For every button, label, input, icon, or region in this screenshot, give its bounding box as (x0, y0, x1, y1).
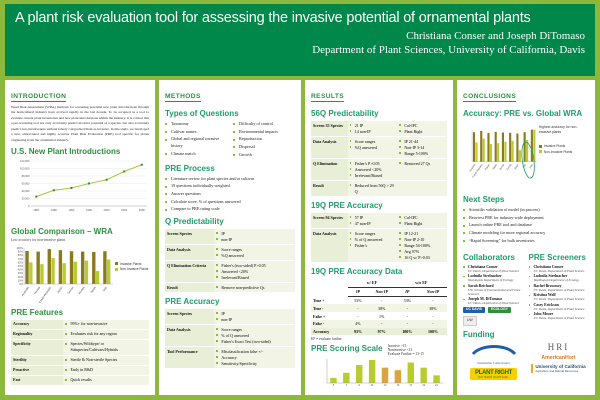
table-cell: - (348, 312, 367, 320)
table-cell: 38% (419, 304, 447, 312)
uw-logo: UW (463, 316, 477, 326)
row-label: False + (311, 312, 348, 320)
row-value: IP 21-44Non-IP 3-14Range 5-100% (397, 137, 447, 159)
accuracy-chart-side: Highest accuracy for non-invasive plants… (539, 121, 589, 155)
accuracy-data-title: 19Q PRE Accuracy Data (311, 267, 447, 276)
global-comparison-svg: 0%10%20%30%40%50%60%70%80%90%100% Austra… (11, 244, 115, 304)
row-value: Score ranges% of Q answeredFisher's (348, 229, 398, 263)
row-label: Fast (11, 375, 63, 385)
value-item: Reduced from 56Q > 29 Q (350, 183, 396, 195)
x-tick-label: 13 (384, 383, 387, 387)
types-of-questions-lists: TaxonomyCultivar namesGlobal and regiona… (165, 121, 295, 160)
chart-annotation: Highest accuracy for non-invasive plants (539, 125, 589, 134)
pre-features-title: PRE Features (11, 308, 149, 317)
list-item: Global and regional invasive history (165, 136, 227, 149)
types-of-questions-left: TaxonomyCultivar namesGlobal and regiona… (165, 121, 227, 160)
person-affiliation: UC Davis, Department of Plant Science (534, 269, 590, 273)
hri-logo: HRI (548, 342, 570, 352)
list-item: Difficulty of control (233, 121, 295, 128)
types-of-questions-right: Difficulty of controlEnvironmental impac… (233, 121, 295, 160)
sc-mark-icon (471, 343, 517, 355)
row-label: True + (311, 296, 348, 304)
sustainable-conservation-logo: Sustainable Conservation (471, 342, 517, 365)
person-affiliation: UC Davis, Department of Plant Science (534, 307, 590, 311)
x-category-label: Taiwan (66, 285, 75, 295)
section-heading-methods: METHODS (165, 93, 201, 102)
legend-item: Invasive Plants (115, 262, 148, 266)
x-category-label: Taiwan (499, 163, 505, 171)
person-affiliation: UC Davis, Department of Plant Science (534, 316, 590, 320)
value-item: %Q answered (216, 253, 293, 259)
value-item: Species/Wildtype/ or Subspecies/Cultivar… (65, 341, 147, 353)
pre-accuracy-title: PRE Accuracy (165, 297, 295, 306)
table-cell: 100% (396, 328, 419, 336)
row-label: Result (311, 181, 348, 197)
y-tick-label: 120,000 (20, 159, 30, 163)
group-header: w/o EF (396, 279, 447, 287)
column-methods: METHODS Types of Questions TaxonomyCulti… (159, 80, 301, 395)
y-tick-label: 60,000 (22, 181, 30, 185)
row-value: IP 12-21Non-IP 2-10Range 54-100%Avg 97%1… (397, 229, 447, 263)
y-tick-label: 90% (18, 250, 24, 254)
x-category-label: Italy (102, 285, 109, 292)
people-section: Collaborators Christiana ConserUC Davis,… (463, 249, 589, 326)
row-label: Accuracy (11, 320, 63, 330)
x-tick-label: 9 (358, 383, 360, 387)
pr-logo-label: PLANT RIGHT (475, 370, 512, 376)
person-affiliation: UC Davis, Department of Plant Science (468, 269, 524, 273)
row-label: Result (165, 283, 214, 293)
value-item: Range 5-100% (399, 151, 445, 157)
person-entry: Ludmila StrelnacherWashington Department… (529, 274, 590, 282)
plant-right-logo: PLANT RIGHT BUY SMART. PLANT SAFE. (470, 368, 517, 380)
chart-subtitle: Low accuracy for non-invasive plants (11, 238, 149, 242)
list-item: Launch online PRE tool and database (463, 222, 589, 229)
x-category-label: Florida (77, 285, 85, 295)
column-introduction: INTRODUCTION Weed Risk Assessment (WRA) … (5, 80, 155, 395)
x-tick-label: 11 (371, 383, 374, 387)
scoring-scale-plot: 579111315171921 (311, 356, 447, 395)
row-label: Specificity (11, 339, 63, 355)
uc-anr-logo: University of California Agriculture and… (531, 364, 585, 373)
next-steps-list: Scientific validation of model (in proce… (463, 207, 589, 245)
value-item: %Q answered (350, 145, 396, 151)
pre-process-title: PRE Process (165, 164, 295, 173)
row-label: Sterility (11, 355, 63, 365)
section-heading-results: RESULTS (311, 93, 344, 102)
table-cell: 4% (348, 320, 367, 328)
table-row: False -4%--- (311, 320, 447, 328)
y-tick-label: 40,000 (22, 189, 30, 193)
row-label: Data Analysis (311, 229, 348, 263)
collaborators-list: Christiana ConserUC Davis, Department of… (463, 265, 524, 306)
collaborators-title: Collaborators (463, 253, 524, 262)
table-row: FastQuick results (11, 375, 149, 385)
x-category-label: Japan (56, 285, 64, 294)
ecology-logo: ECOLOGY (488, 307, 511, 313)
funding-logos: Sustainable Conservation PLANT RIGHT BUY… (463, 342, 589, 380)
value-item: non-IP (216, 237, 293, 243)
chart-title: Global Comparison – WRA (11, 227, 149, 236)
line-chart-svg: 020,00040,00060,00080,000100,000120,000 … (11, 158, 149, 220)
y-tick-label: 20,000 (22, 196, 30, 200)
row-label: Screen 35 Species (311, 121, 348, 137)
x-category-label: PRE (530, 164, 535, 169)
table-cell: 53% (396, 296, 419, 304)
row-value: IPnon-IP (214, 309, 295, 325)
row-value: Evaluates risk for any region (63, 329, 149, 339)
poster-header: A plant risk evaluation tool for assessi… (5, 4, 595, 76)
accuracy-comparison-svg: AustraliaCzech RepublicHawaiiJapanTaiwan… (463, 121, 539, 191)
person-affiliation: UC Davis, Department of Plant Science (534, 288, 590, 292)
person-entry: John MooreUC Davis, Department of Plant … (529, 312, 590, 320)
table-row: ResultRemove non-predictive Qs (165, 283, 295, 293)
person-entry: Ludmila StrelnacherWashington Department… (463, 274, 524, 282)
legend-swatch-non-invasive (115, 268, 118, 271)
next-steps-title: Next Steps (463, 195, 589, 204)
q19-accuracy-table: Screen 94 Species57 IP47 non-IPCal-IPCPl… (311, 213, 447, 263)
accuracy-data-footnote: EF = evaluate further (311, 337, 447, 341)
value-item: Early in R&D (65, 367, 147, 373)
list-item: Compare to PRE rating scale (165, 206, 295, 213)
table-cell: 1% (368, 312, 396, 320)
author-block: Christiana Conser and Joseph DiTomaso De… (15, 30, 585, 58)
x-tick-label: 1992 (69, 208, 75, 212)
row-value: 95%+ for non-invasive (63, 320, 149, 330)
person-entry: Christiana ConserUC Davis, Department of… (463, 265, 524, 273)
table-cell: 97% (368, 328, 396, 336)
pre-screeners-list: Christiana ConserUC Davis, Department of… (529, 265, 590, 321)
y-tick-label: 0% (19, 282, 23, 286)
x-tick-label: 1989 (51, 208, 57, 212)
matrix-group-header-row: w/ EFw/o EF (311, 279, 447, 287)
list-item: 19 questions individually weighted (165, 183, 295, 190)
q56-title: 56Q Predictability (311, 109, 447, 118)
list-item: Literature review for plant species and/… (165, 176, 295, 183)
x-category-label: Florida (506, 163, 513, 171)
person-entry: Rachel BrownseyUC Davis, Department of P… (529, 284, 590, 292)
accuracy-chart-title: Accuracy: PRE vs. Global WRA (463, 109, 589, 118)
ucanr-line1: University of California (535, 364, 585, 369)
pre-accuracy-table: Screen SpeciesIPnon-IPData AnalysisScore… (165, 309, 295, 369)
table-row: SterilitySterile & Non-sterile Species (11, 355, 149, 365)
value-item: Fisher's Exact Test (two-sided) (216, 339, 293, 345)
y-tick-label: 80% (18, 253, 24, 257)
x-tick-label: 17 (409, 383, 412, 387)
list-item: Calculate score, % of questions answered (165, 199, 295, 206)
row-label: Screen 94 Species (311, 213, 348, 229)
list-item: “Rapid Screening” for bulk inventories (463, 238, 589, 245)
table-row: Q Elimination CriteriaFisher's (two-side… (165, 261, 295, 283)
row-value: Remove non-predictive Qs (214, 283, 295, 293)
global-comparison-legend: Invasive Plants Non-Invasive Plants (115, 244, 148, 273)
y-tick-label: 0 (28, 204, 30, 208)
person-affiliation: Washington Department of Ecology (468, 278, 524, 282)
uc-davis-logo: UC DAVIS (463, 307, 485, 313)
x-tick-label: 2000 (104, 208, 110, 212)
y-tick-label: 100% (16, 246, 23, 250)
value-item: 95%+ for non-invasive (65, 321, 147, 327)
funding-title: Funding (463, 330, 589, 339)
pre-features-table: Accuracy95%+ for non-invasiveRegionality… (11, 320, 149, 386)
list-item: Climate modeling for more regional accur… (463, 230, 589, 237)
americanhort-logo: AmericanHort (541, 355, 575, 361)
legend-label: Non-Invasive Plants (544, 150, 572, 154)
value-item: Fisher's (350, 243, 396, 249)
person-affiliation: UC Davis, Department of Plant Science (468, 301, 524, 305)
list-item: Beta-test PRE for industry-wide deployme… (463, 215, 589, 222)
table-cell: - (396, 320, 419, 328)
row-label: Regionality (11, 329, 63, 339)
row-label: Q Elimination Criteria (165, 261, 214, 283)
row-value: Cal-IPCPlant Right (397, 213, 447, 229)
line-chart-plot: 020,00040,00060,00080,000100,000120,000 … (11, 158, 149, 225)
row-value: Removed 27 Qs (397, 159, 447, 181)
table-row: ProactiveEarly in R&D (11, 365, 149, 375)
x-category-label: Australia (469, 163, 477, 173)
person-affiliation: Washington Department of Ecology (534, 278, 590, 282)
x-tick-label: 1987 (33, 208, 39, 212)
y-tick-label: 100,000 (20, 166, 30, 170)
legend-swatch-invasive (115, 262, 118, 265)
value-item: Sterile & Non-sterile Species (65, 357, 147, 363)
table-row: Data AnalysisScore ranges%Q answeredIP 2… (311, 137, 447, 159)
list-item: Growth (233, 152, 295, 159)
y-tick-label: 60% (18, 260, 24, 264)
row-label: Proactive (11, 365, 63, 375)
page-title: A plant risk evaluation tool for assessi… (15, 10, 585, 27)
legend-swatch-non-invasive (539, 150, 542, 153)
list-item: Environmental impacts (233, 129, 295, 136)
table-row: Tool PerformanceMisclassification false … (165, 347, 295, 369)
pre-process-list: Literature review for plant species and/… (165, 176, 295, 214)
author-names: Christiana Conser and Joseph DiTomaso (15, 30, 585, 44)
row-label: False - (311, 320, 348, 328)
row-label: Accuracy (311, 328, 348, 336)
person-entry: Joseph M. DiTomasoUC Davis, Department o… (463, 297, 524, 305)
y-tick-label: 20% (18, 275, 24, 279)
x-category-label: Spain (515, 163, 520, 170)
corner-cell (311, 287, 348, 296)
row-label: Screen Species (165, 309, 214, 325)
y-tick-label: 70% (18, 257, 24, 261)
value-item: Removed 27 Qs (399, 161, 445, 167)
row-label: Data Analysis (311, 137, 348, 159)
poster-columns: INTRODUCTION Weed Risk Assessment (WRA) … (5, 80, 595, 395)
x-category-label: Hawaii (485, 164, 491, 171)
chart-global-comparison-wra: Global Comparison – WRA Low accuracy for… (11, 227, 149, 304)
legend-label: Invasive Plants (120, 262, 141, 266)
table-row: Screen SpeciesIPnon-IP (165, 309, 295, 325)
person-affiliation: UW, School of Environmental and Forest S… (468, 288, 524, 296)
column-conclusions: CONCLUSIONS Accuracy: PRE vs. Global WRA… (457, 80, 595, 395)
pr-logo-sub: BUY SMART. PLANT SAFE. (475, 376, 512, 379)
collaborator-logos: UC DAVIS ECOLOGY UW (463, 307, 524, 325)
x-category-label: Australia (20, 285, 30, 297)
table-row: Data AnalysisScore ranges% of Q answered… (165, 325, 295, 347)
table-row: False +-1%-- (311, 312, 447, 320)
list-item: Scientific validation of model (in proce… (463, 207, 589, 214)
row-label: Data Analysis (165, 325, 214, 347)
value-item: 14 non-IP (350, 129, 396, 135)
americanhort-label: AmericanHort (541, 355, 575, 361)
group-header: w/ EF (348, 279, 395, 287)
scoring-scale-title: PRE Scoring Scale (311, 344, 383, 353)
table-cell: - (419, 296, 447, 304)
row-value: Cal-IPCPlant Right (397, 121, 447, 137)
row-label: Tool Performance (165, 347, 214, 369)
table-row: Screen 35 Species21 IP14 non-IPCal-IPCPl… (311, 121, 447, 137)
value-item: Remove non-predictive Qs (216, 285, 293, 291)
table-cell: - (368, 320, 396, 328)
q19-title: 19Q PRE Accuracy (311, 201, 447, 210)
x-tick-label: 19 (422, 383, 425, 387)
table-row: Data AnalysisScore ranges%Q answered (165, 245, 295, 261)
row-value: Score ranges% of Q answeredFisher's Exac… (214, 325, 295, 347)
author-affiliation: Department of Plant Sciences, University… (15, 44, 585, 58)
row-value: Early in R&D (63, 365, 149, 375)
table-cell: - (396, 312, 419, 320)
row-label: True - (311, 304, 348, 312)
value-item: Irrelevant/Biased (350, 173, 396, 179)
x-category-label: Spain (89, 285, 97, 294)
legend-label: Invasive Plants (544, 144, 565, 148)
value-item: 47 non-IP (350, 221, 396, 227)
table-row: Screen SpeciesIPnon-IP (165, 229, 295, 245)
accuracy-data-matrix: w/ EFw/o EFIPNon-IPIPNon-IP True +53%-53… (311, 279, 447, 335)
introduction-paragraph: Weed Risk Assessment (WRA) methods for s… (11, 105, 149, 143)
value-item: Plant Right (399, 221, 445, 227)
list-item: Answer questions (165, 191, 295, 198)
chart-us-new-plant-introductions: U.S. New Plant Introductions 020,00040,0… (11, 147, 149, 225)
q56-predictability-table: Screen 35 Species21 IP14 non-IPCal-IPCPl… (311, 121, 447, 197)
row-label: Data Analysis (165, 245, 214, 261)
table-cell: 53% (348, 296, 367, 304)
column-header: Non-IP (368, 287, 396, 296)
scoring-scale-svg: 579111315171921 (311, 356, 447, 390)
x-tick-label: 2008 (139, 208, 145, 212)
list-item: Cultivar names (165, 129, 227, 136)
types-of-questions-title: Types of Questions (165, 109, 295, 118)
table-row: Data AnalysisScore ranges% of Q answered… (311, 229, 447, 263)
x-tick-label: 5 (333, 383, 335, 387)
table-cell: - (419, 320, 447, 328)
row-label: Q Elimination (311, 159, 348, 181)
sc-logo-label: Sustainable Conservation (471, 361, 517, 365)
table-cell: - (419, 312, 447, 320)
row-value: Score ranges%Q answered (214, 245, 295, 261)
table-row: Accuracy95%+ for non-invasive (11, 320, 149, 330)
table-row: Q EliminationFisher's P>0.05Answered <20… (311, 159, 447, 181)
x-category-label: Japan (493, 163, 499, 170)
y-tick-label: 30% (18, 271, 24, 275)
x-tick-label: 21 (435, 383, 438, 387)
row-value (397, 181, 447, 197)
row-value: Fisher's (two-sided) P>0.05Answered <20%… (214, 261, 295, 283)
column-header: IP (348, 287, 367, 296)
row-value: 57 IP47 non-IP (348, 213, 398, 229)
value-item: Plant Right (399, 129, 445, 135)
x-tick-label: 15 (396, 383, 399, 387)
legend-label: Non-Invasive Plants (120, 267, 148, 271)
table-cell: - (368, 296, 396, 304)
row-value: Species/Wildtype/ or Subspecies/Cultivar… (63, 339, 149, 355)
x-tick-label: 1996 (86, 208, 92, 212)
x-tick-label: 7 (346, 383, 348, 387)
row-value: Score ranges%Q answered (348, 137, 398, 159)
table-row: ResultReduced from 56Q > 29 Q (311, 181, 447, 197)
chart-title: U.S. New Plant Introductions (11, 147, 149, 156)
row-value: Quick results (63, 375, 149, 385)
legend-item: Non-Invasive Plants (115, 267, 148, 271)
person-entry: Kristina WolfUC Davis, Department of Pla… (529, 293, 590, 301)
value-item: Sensitivity/Specificity (216, 361, 293, 367)
row-value: 21 IP14 non-IP (348, 121, 398, 137)
q-predictability-title: Q Predictability (165, 217, 295, 226)
value-item: Quick results (65, 377, 147, 383)
list-item: Taxonomy (165, 121, 227, 128)
table-row: RegionalityEvaluates risk for any region (11, 329, 149, 339)
value-item: non-IP (216, 317, 293, 323)
row-label: Screen Species (165, 229, 214, 245)
person-entry: Christiana ConserUC Davis, Department of… (529, 265, 590, 273)
table-cell: 38% (368, 304, 396, 312)
column-results: RESULTS 56Q Predictability Screen 35 Spe… (305, 80, 453, 395)
q-predictability-table: Screen SpeciesIPnon-IPData AnalysisScore… (165, 229, 295, 293)
column-header: Non-IP (419, 287, 447, 296)
y-tick-label: 40% (18, 268, 24, 272)
row-value: Sterile & Non-sterile Species (63, 355, 149, 365)
value-item: Evaluates risk for any region (65, 331, 147, 337)
poster-root: A plant risk evaluation tool for assessi… (0, 0, 600, 400)
row-value: Reduced from 56Q > 29 Q (348, 181, 398, 197)
table-cell: 100% (419, 328, 447, 336)
table-cell: - (348, 304, 367, 312)
person-entry: Sarah ReichardUW, School of Environmenta… (463, 284, 524, 296)
x-tick-label: 2004 (121, 208, 127, 212)
list-item: Dispersal (233, 144, 295, 151)
ucanr-line2: Agriculture and Natural Resources (535, 369, 585, 373)
y-tick-label: 50% (18, 264, 24, 268)
column-header: IP (396, 287, 419, 296)
table-row: SpecificitySpecies/Wildtype/ or Subspeci… (11, 339, 149, 355)
table-cell: - (396, 304, 419, 312)
legend-item: Non-Invasive Plants (539, 150, 589, 154)
scoring-scale-legend: Invasive >15 Noninvasive <13 Evaluate Fu… (388, 344, 424, 356)
pre-screeners-title: PRE Screeners (529, 253, 590, 262)
value-item: 16 Q w/ P>0.03 (399, 255, 445, 261)
section-heading-introduction: INTRODUCTION (11, 93, 66, 102)
legend-item: Invasive Plants (539, 144, 589, 148)
table-cell: 93% (348, 328, 367, 336)
person-entry: Casey EricksonUC Davis, Department of Pl… (529, 303, 590, 311)
table-row: Accuracy93%97%100%100% (311, 328, 447, 336)
x-category-label: Hawaii (33, 285, 41, 294)
legend-swatch-invasive (539, 145, 542, 148)
row-value: IPnon-IP (214, 229, 295, 245)
list-item: Reproduction (233, 136, 295, 143)
section-heading-conclusions: CONCLUSIONS (463, 93, 516, 102)
table-row: True +53%-53%- (311, 296, 447, 304)
y-tick-label: 10% (18, 278, 24, 282)
row-value: Fisher's P>0.05Answered <20%Irrelevant/B… (348, 159, 398, 181)
table-row: True --38%-38% (311, 304, 447, 312)
row-value: Misclassification false +/-AccuracySensi… (214, 347, 295, 369)
value-item: Irrelevant/Biased (216, 275, 293, 281)
person-affiliation: UC Davis, Department of Plant Science (534, 297, 590, 301)
list-item: Climate match (165, 151, 227, 158)
y-tick-label: 80,000 (22, 174, 30, 178)
